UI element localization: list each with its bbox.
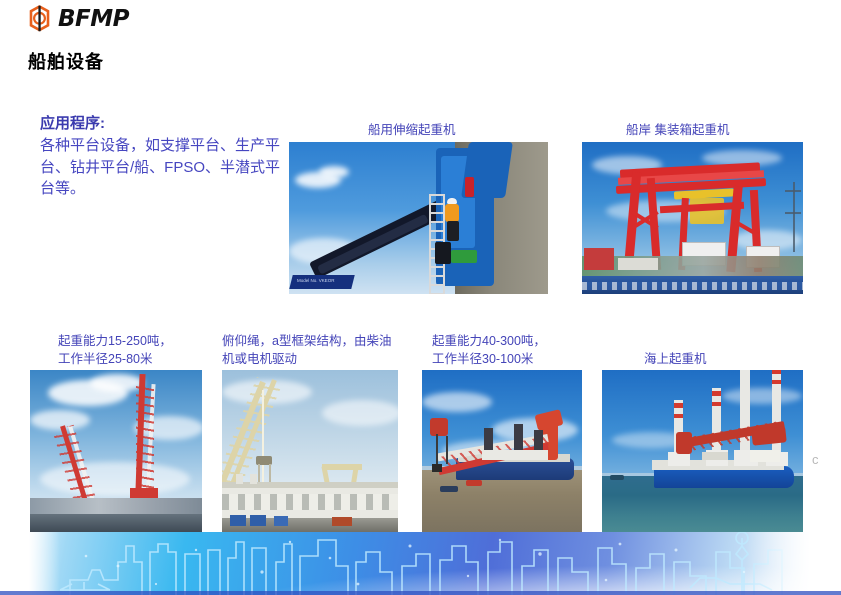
brand-name: BFMP (58, 6, 129, 32)
caption-a-frame-crane: 俯仰绳，a型框架结构，由柴油 机或电机驱动 (222, 332, 391, 368)
stray-character: c (812, 452, 819, 467)
caption-marine-telescopic-crane: 船用伸缩起重机 (368, 121, 456, 139)
footer-decorative-band (0, 532, 841, 595)
yellow-lattice-crane-shipyard-photo (222, 370, 398, 532)
bfmp-hexagon-icon (26, 5, 53, 32)
caption-offshore-crane: 海上起重机 (644, 350, 707, 368)
application-heading: 应用程序: (40, 113, 288, 135)
caption-floating-crane: 起重能力40-300吨， 工作半径30-100米 (432, 332, 546, 368)
brand-logo: BFMP (26, 5, 129, 32)
slide-root: BFMP 船舶设备 应用程序: 各种平台设备，如支撑平台、生产平台、钻井平台/船… (0, 0, 841, 595)
caption-ship-to-shore-crane: 船岸 集装箱起重机 (626, 121, 729, 139)
offshore-jackup-crane-vessel-photo (602, 370, 803, 532)
ship-to-shore-container-crane-photo (582, 142, 803, 294)
marine-telescopic-crane-photo: Model No. VKEOR (289, 142, 548, 294)
application-text-block: 应用程序: 各种平台设备，如支撑平台、生产平台、钻井平台/船、FPSO、半潜式平… (40, 113, 288, 200)
city-skyline-outline (0, 532, 841, 595)
application-body: 各种平台设备，如支撑平台、生产平台、钻井平台/船、FPSO、半潜式平台等。 (40, 135, 288, 200)
page-title: 船舶设备 (28, 48, 104, 74)
floating-crane-barge-photo (422, 370, 582, 532)
red-lattice-boom-crane-photo (30, 370, 202, 532)
caption-red-lattice-crane: 起重能力15-250吨， 工作半径25-80米 (58, 332, 172, 368)
